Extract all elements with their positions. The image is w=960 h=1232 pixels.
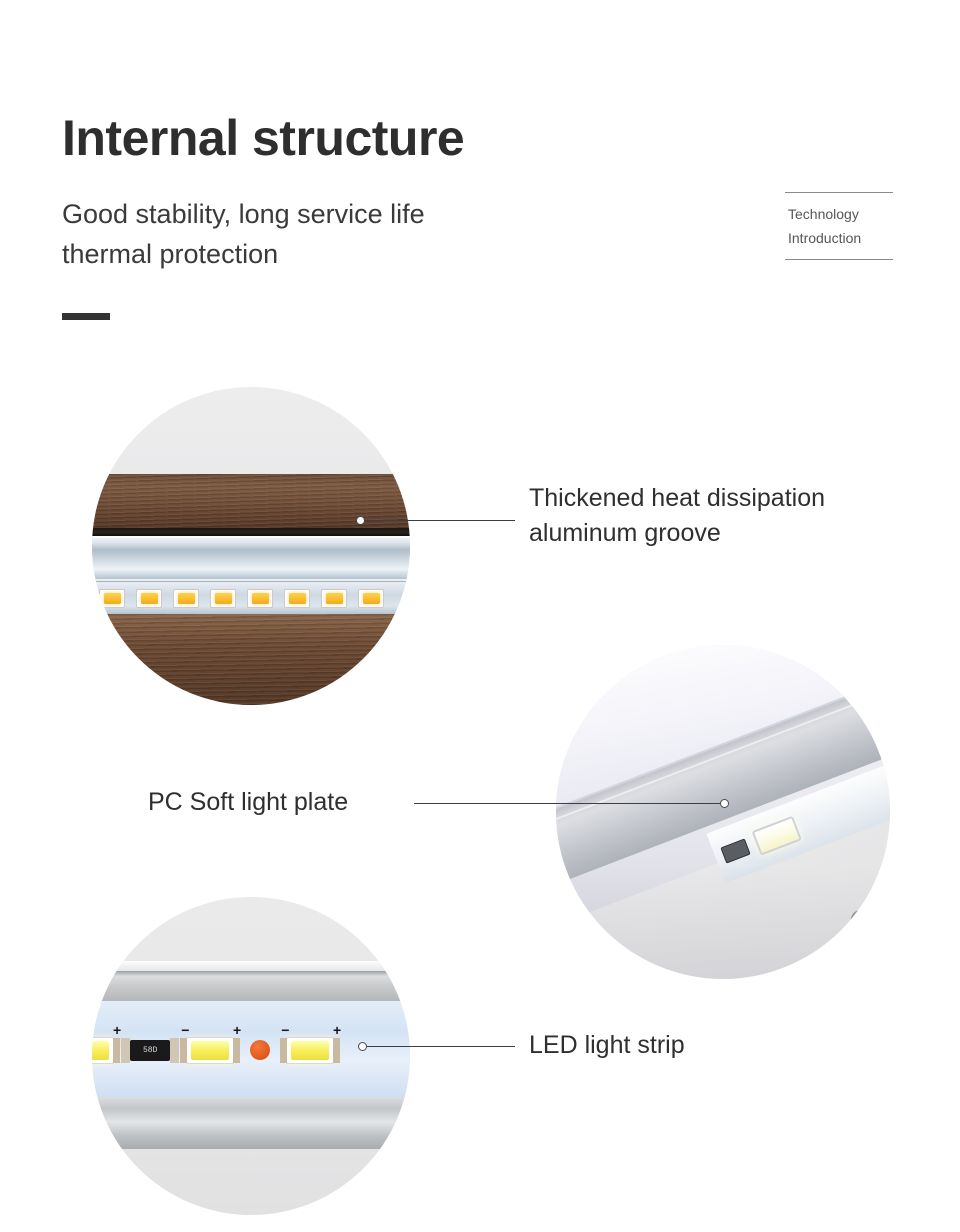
smd-led: − + [286, 1037, 334, 1064]
callout-label-aluminum-groove: Thickened heat dissipation aluminum groo… [529, 481, 825, 550]
orange-marker-dot [250, 1040, 270, 1060]
accent-bar [62, 313, 110, 320]
callout-line-led-light-strip [365, 1046, 515, 1047]
callout-label-line-1: Thickened heat dissipation [529, 481, 825, 516]
smd-led: − + [92, 1037, 114, 1064]
led-chip [136, 589, 162, 608]
led-chip [284, 589, 310, 608]
smd-led: − + [186, 1037, 234, 1064]
tech-text: Technology Introduction [785, 193, 893, 250]
callout-line-pc-soft-light-plate [414, 803, 722, 804]
photo-pc-soft-light-plate [556, 645, 890, 979]
led-chip [358, 589, 384, 608]
photo-led-light-strip: − + 58D − + − + [92, 897, 410, 1215]
photo-wood-aluminum-groove [92, 387, 410, 705]
callout-dot-led-light-strip [358, 1042, 367, 1051]
callout-line-aluminum-groove [363, 520, 515, 521]
tech-rule-bottom [785, 259, 893, 260]
callout-label-pc-soft-light-plate: PC Soft light plate [148, 785, 348, 820]
callout-dot-aluminum-groove [356, 516, 365, 525]
led-chip [321, 589, 347, 608]
page-subtitle: Good stability, long service life therma… [62, 195, 425, 275]
resistor-code: 58D [143, 1046, 157, 1055]
smd-resistor: 58D [130, 1040, 170, 1061]
callout-label-line-1: LED light strip [529, 1028, 685, 1063]
callout-label-line-2: aluminum groove [529, 516, 825, 551]
callout-label-line-1: PC Soft light plate [148, 785, 348, 820]
subtitle-line-1: Good stability, long service life [62, 195, 425, 235]
led-chip [99, 589, 125, 608]
led-chip [210, 589, 236, 608]
led-chip [173, 589, 199, 608]
led-chip [247, 589, 273, 608]
callout-dot-pc-soft-light-plate [720, 799, 729, 808]
dark-seam-line [92, 528, 410, 536]
infographic-page: Internal structure Good stability, long … [0, 0, 960, 1232]
aluminum-channel-bottom [92, 1097, 410, 1149]
technology-introduction-block: Technology Introduction [785, 192, 893, 260]
aluminum-channel-top [92, 961, 410, 1001]
aluminum-top-groove-line [92, 971, 410, 976]
warm-led-rail [92, 582, 410, 614]
smd-resistor [721, 839, 751, 864]
callout-label-led-light-strip: LED light strip [529, 1028, 685, 1063]
tech-line-1: Technology [788, 202, 893, 226]
circle-shadow [556, 865, 890, 979]
white-led-chip [752, 815, 802, 855]
aluminum-groove-surface [92, 536, 410, 582]
page-title: Internal structure [62, 112, 464, 165]
wood-grain-bottom [92, 614, 410, 705]
subtitle-line-2: thermal protection [62, 235, 425, 275]
tech-line-2: Introduction [788, 226, 893, 250]
